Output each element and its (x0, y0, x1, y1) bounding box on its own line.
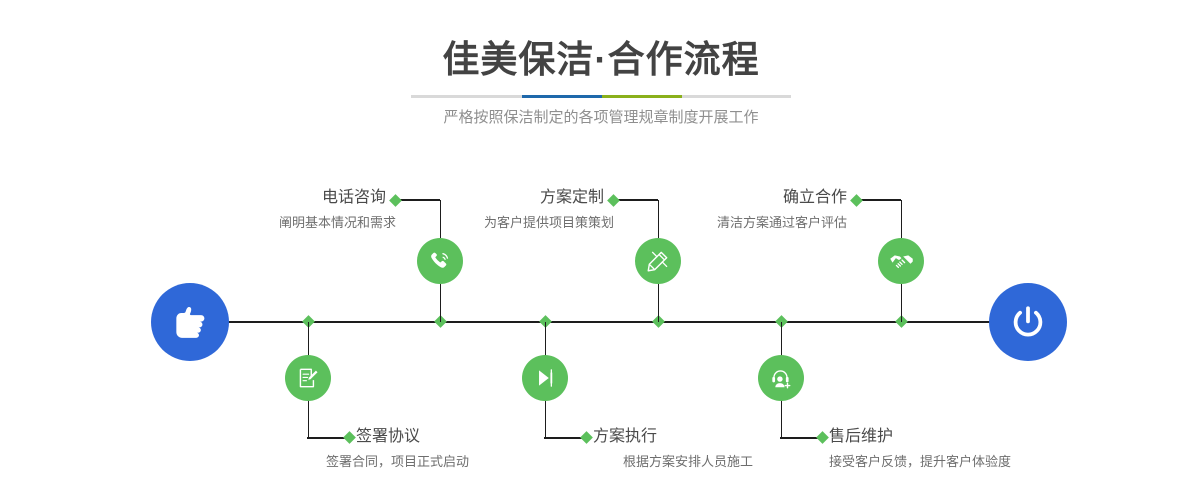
step-1-label-marker (389, 194, 402, 207)
step-2-connector-vertical-lower (308, 400, 310, 438)
step-5-label-marker (850, 194, 863, 207)
step-5-icon-badge[interactable] (878, 238, 924, 284)
step-5-desc: 清洁方案通过客户评估 (637, 213, 847, 233)
step-6-label-marker (816, 431, 829, 444)
phone-call-icon (427, 248, 453, 274)
step-1-desc: 阐明基本情况和需求 (186, 213, 396, 233)
step-5-title: 确立合作 (660, 188, 847, 208)
step-3-title: 方案定制 (414, 188, 604, 208)
step-6-connector-vertical-lower (781, 400, 783, 438)
step-3-label-marker (607, 194, 620, 207)
step-5-connector-vertical-upper (901, 200, 903, 238)
step-2-label-marker (343, 431, 356, 444)
step-2-connector-vertical-upper (308, 322, 310, 356)
step-4-desc: 根据方案安排人员施工 (623, 452, 753, 472)
process-flow-timeline: 电话咨询 阐明基本情况和需求 签署协议 签署合同，项目正式启动 (0, 0, 1202, 502)
flow-start-node[interactable] (151, 283, 229, 361)
flow-end-node[interactable] (989, 283, 1067, 361)
step-4-label-marker (580, 431, 593, 444)
step-2-icon-badge[interactable] (285, 355, 331, 401)
pencil-ruler-icon (645, 248, 671, 274)
step-5-connector-vertical-lower (901, 284, 903, 322)
document-edit-icon (295, 365, 321, 391)
step-1-connector-vertical-lower (440, 284, 442, 322)
step-3-connector-vertical-lower (658, 284, 660, 322)
step-4-title: 方案执行 (593, 427, 657, 447)
step-3-connector-horizontal (614, 199, 658, 201)
step-6-desc: 接受客户反馈，提升客户体验度 (829, 452, 1011, 472)
step-3-icon-badge[interactable] (635, 238, 681, 284)
step-1-icon-badge[interactable] (417, 238, 463, 284)
step-6-icon-badge[interactable] (758, 355, 804, 401)
play-execute-icon (532, 365, 558, 391)
step-5-connector-horizontal (857, 199, 901, 201)
step-2-desc: 签署合同，项目正式启动 (326, 452, 469, 472)
handshake-icon (888, 248, 915, 275)
power-icon (1006, 300, 1050, 344)
step-4-connector-vertical-lower (545, 400, 547, 438)
step-3-desc: 为客户提供项目策策划 (404, 213, 614, 233)
support-agent-icon (768, 365, 794, 391)
step-4-icon-badge[interactable] (522, 355, 568, 401)
step-1-title: 电话咨询 (196, 188, 386, 208)
step-6-title: 售后维护 (829, 427, 893, 447)
step-4-connector-vertical-upper (545, 322, 547, 356)
step-6-connector-vertical-upper (781, 322, 783, 356)
step-2-title: 签署协议 (356, 427, 420, 447)
pointing-hand-icon (167, 299, 213, 345)
